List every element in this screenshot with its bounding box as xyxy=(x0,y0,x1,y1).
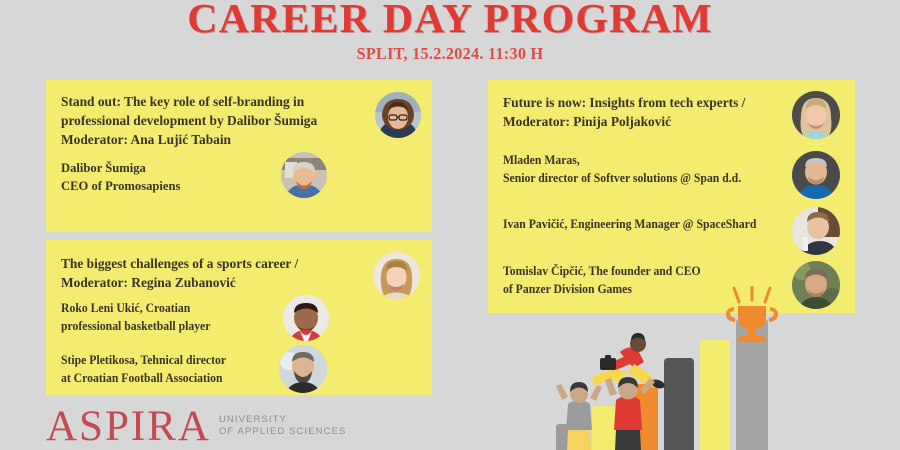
aspira-logo: ASPIRAUNIVERSITYOF APPLIED SCIENCES xyxy=(46,405,346,448)
speaker-entry: Dalibor Šumiga CEO of Promosapiens xyxy=(61,160,311,195)
session-heading: The biggest challenges of a sports caree… xyxy=(61,254,371,292)
avatar-stipe-pletikosa xyxy=(279,345,327,393)
avatar-dalibor-sumiga xyxy=(281,152,327,198)
page-title: CAREER DAY PROGRAM xyxy=(0,0,900,42)
session-heading: Stand out: The key role of self-branding… xyxy=(61,92,371,149)
logo-tagline: UNIVERSITYOF APPLIED SCIENCES xyxy=(219,414,347,440)
speaker-entry: Ivan Pavičić, Engineering Manager @ Spac… xyxy=(503,216,782,234)
avatar-ivan-pavicic xyxy=(792,207,840,255)
poster-canvas: CAREER DAY PROGRAM SPLIT, 15.2.2024. 11:… xyxy=(0,0,900,450)
success-illustration xyxy=(548,286,900,450)
avatar-ana-lujic-tabain xyxy=(375,92,421,138)
session-panel-sports-career: The biggest challenges of a sports caree… xyxy=(46,240,432,395)
avatar-mladen-maras xyxy=(792,151,840,199)
avatar-roko-leni-ukic xyxy=(283,295,329,341)
page-subtitle: SPLIT, 15.2.2024. 11:30 H xyxy=(23,44,878,64)
speaker-entry: Mladen Maras, Senior director of Softver… xyxy=(503,152,782,187)
session-panel-tech-experts: Future is now: Insights from tech expert… xyxy=(488,80,855,313)
avatar-pinija-poljakovic xyxy=(792,91,840,139)
avatar-regina-zubanovic xyxy=(373,252,420,299)
speaker-entry: Stipe Pletikosa, Tehnical director at Cr… xyxy=(61,352,303,387)
success-bar-chart-trophy-icon xyxy=(548,286,900,450)
speaker-entry: Roko Leni Ukić, Croatian professional ba… xyxy=(61,300,294,335)
session-heading: Future is now: Insights from tech expert… xyxy=(503,93,793,131)
trophy-icon xyxy=(726,306,778,342)
logo-wordmark: ASPIRA xyxy=(46,405,211,448)
session-panel-self-branding: Stand out: The key role of self-branding… xyxy=(46,80,432,232)
